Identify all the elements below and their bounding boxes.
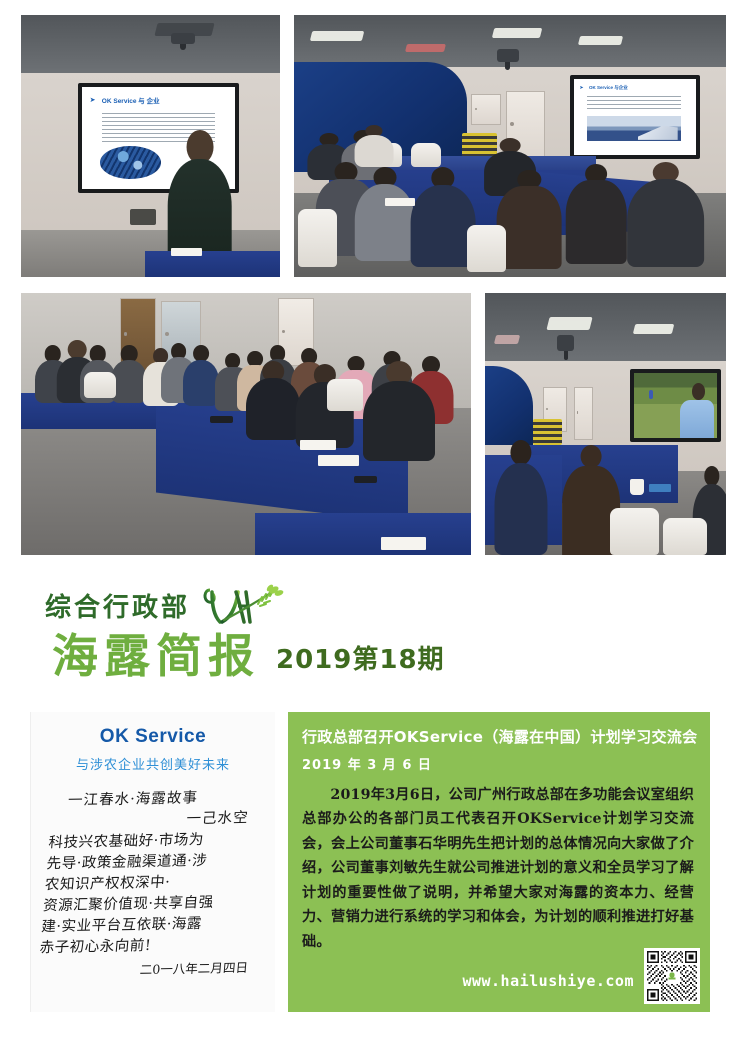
photo-audience-seated: [18, 290, 474, 558]
projection-screen: ➤ OK Service 与企业: [570, 75, 700, 159]
panel-footer: www.hailushiye.com: [462, 948, 700, 1004]
photo-conference-room-wide: ➤ OK Service 与企业: [291, 12, 729, 280]
person-attendee: [497, 170, 562, 270]
department-line: 综合行政部: [45, 582, 286, 628]
news-panel: 行政总部召开OKService（海露在中国）计划学习交流会 2019 年 3 月…: [288, 712, 710, 1012]
news-headline: 行政总部召开OKService（海露在中国）计划学习交流会: [302, 726, 694, 747]
ok-service-panel: OK Service 与涉农企业共创美好未来 一江春水·海露故事 一己水空 科技…: [30, 712, 275, 1012]
poem-line-8: 赤子初心永向前!: [39, 934, 257, 960]
poem-date: 二0一八年二月四日: [37, 959, 255, 982]
person-attendee: [566, 164, 626, 264]
department-name: 综合行政部: [45, 587, 190, 624]
news-date: 2019 年 3 月 6 日: [302, 754, 694, 773]
slide-title: OK Service 与 企业: [102, 95, 160, 105]
person-attendee: [354, 167, 414, 261]
person-attendee: [411, 167, 476, 267]
video-screen: [630, 369, 722, 442]
person-attendee-front: [246, 361, 300, 440]
person-presenter: [166, 130, 233, 261]
lh-logo: [200, 582, 286, 628]
slide-title: OK Service 与企业: [589, 85, 628, 91]
newsletter-page: ➤ OK Service 与 企业: [0, 0, 740, 1047]
photo-video-playback: [482, 290, 729, 558]
ok-service-subtitle: 与涉农企业共创美好未来: [41, 754, 265, 773]
ok-service-title: OK Service: [41, 726, 265, 748]
photo-speaker-presenting: ➤ OK Service 与 企业: [18, 12, 283, 280]
news-body: 2019年3月6日，公司广州行政总部在多功能会议室组织总部办公的各部门员工代表召…: [302, 783, 694, 954]
masthead: 综合行政部: [0, 565, 740, 705]
title-line: 海露简报 2019第18期: [52, 633, 445, 679]
issue-number: 2019第18期: [276, 639, 445, 679]
person-attendee: [495, 440, 548, 555]
handwritten-poem: 一江春水·海露故事 一己水空 科技兴农基础好·市场为 先导·政策金融渠道通·涉 …: [33, 787, 273, 982]
page-title: 海露简报: [52, 633, 260, 679]
qr-code[interactable]: [644, 948, 700, 1004]
photo-collage: ➤ OK Service 与 企业: [0, 0, 740, 565]
person-attendee: [354, 125, 393, 167]
content-panels: OK Service 与涉农企业共创美好未来 一江春水·海露故事 一己水空 科技…: [0, 712, 740, 1032]
website-url[interactable]: www.hailushiye.com: [462, 972, 634, 1004]
person-attendee: [627, 162, 705, 267]
person-attendee-front: [363, 361, 435, 461]
